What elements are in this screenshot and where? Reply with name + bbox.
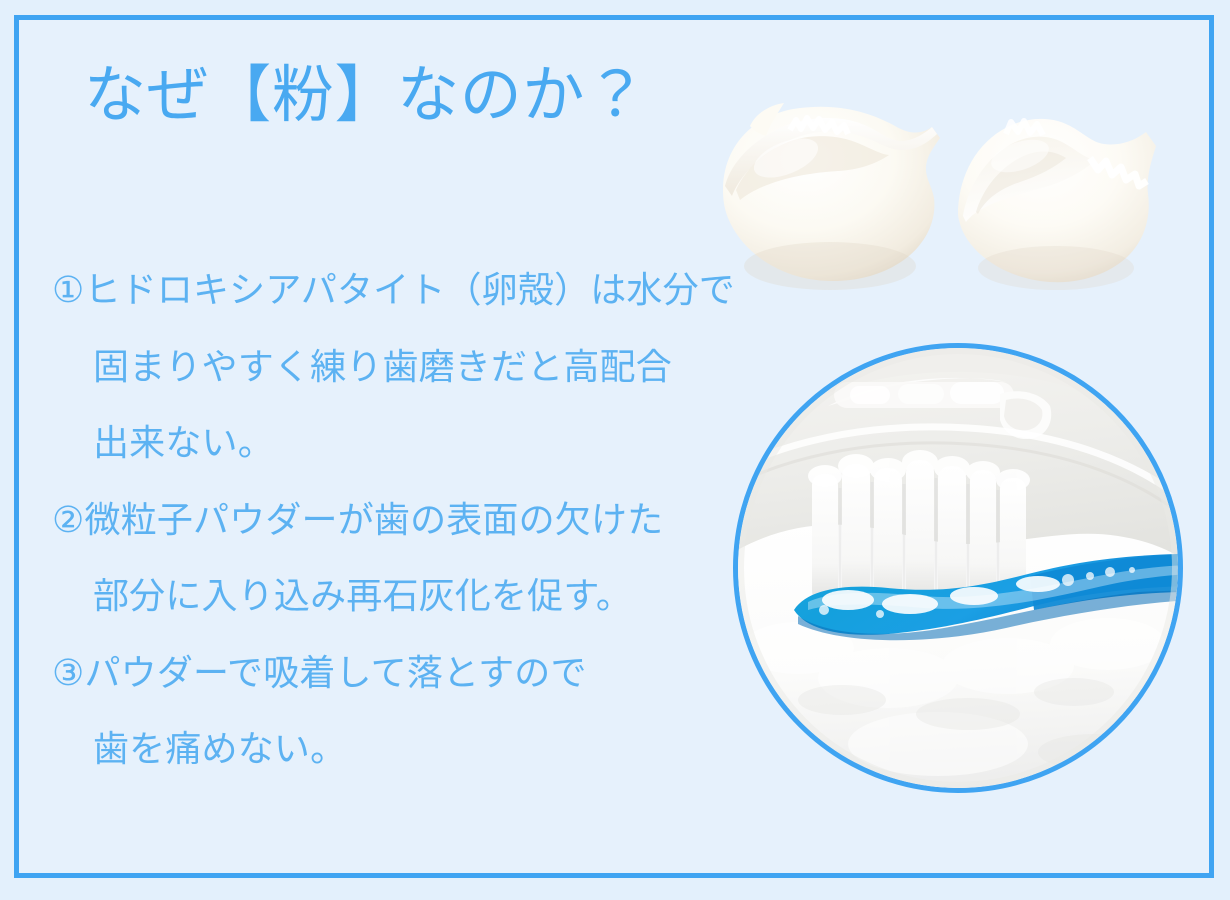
reason-3-line-1: ③パウダーで吸着して落とすので [52,635,732,712]
toothbrush-in-powder-photo [733,343,1183,793]
list-item: ②微粒子パウダーが歯の表面の欠けた 部分に入り込み再石灰化を促す。 [52,482,732,635]
reason-3-line-2: 歯を痛めない。 [52,711,732,788]
reason-2-line-2: 部分に入り込み再石灰化を促す。 [52,558,732,635]
list-item: ③パウダーで吸着して落とすので 歯を痛めない。 [52,635,732,788]
list-item: ①ヒドロキシアパタイト（卵殻）は水分で 固まりやすく練り歯磨きだと高配合 出来な… [52,252,732,482]
cracked-eggshell-halves-photo [690,86,1210,326]
reason-2-line-1: ②微粒子パウダーが歯の表面の欠けた [52,482,732,559]
reason-1-line-3: 出来ない。 [52,405,732,482]
reasons-list: ①ヒドロキシアパタイト（卵殻）は水分で 固まりやすく練り歯磨きだと高配合 出来な… [52,252,732,788]
page-title: なぜ【粉】なのか？ [84,62,648,130]
eggshell-right [958,119,1156,290]
photo-image [738,348,1178,788]
poster-root: なぜ【粉】なのか？ ①ヒドロキシアパタイト（卵殻）は水分で 固まりやすく練り歯磨… [0,0,1230,900]
reason-1-line-2: 固まりやすく練り歯磨きだと高配合 [52,329,732,406]
reason-1-line-1: ①ヒドロキシアパタイト（卵殻）は水分で [52,252,732,329]
eggshell-left [723,103,940,290]
